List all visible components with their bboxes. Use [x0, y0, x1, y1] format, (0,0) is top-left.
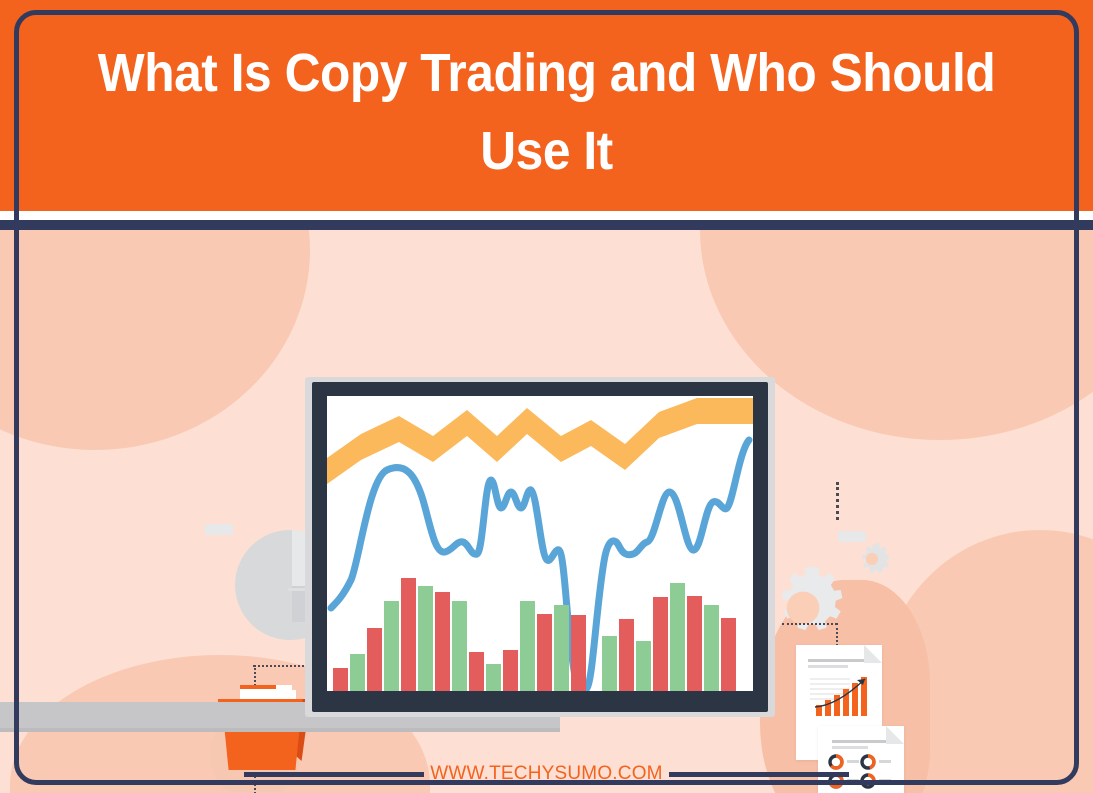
monitor-screen: [327, 396, 753, 691]
doc-heading-line: [808, 659, 864, 662]
doc-text-line: [832, 746, 868, 749]
chart-bar: [435, 592, 450, 691]
rectangle-decoration-left: [205, 524, 233, 535]
desk-surface-edge: [0, 728, 560, 732]
chart-bar: [469, 652, 484, 691]
gear-icon-small: [855, 542, 889, 576]
footer-website-url: WWW.TECHYSUMO.COM: [424, 763, 668, 785]
chart-bar: [653, 597, 668, 691]
chart-bar: [520, 601, 535, 691]
background-blob-top-left: [0, 230, 310, 450]
chart-bar: [670, 583, 685, 691]
chart-bar: [418, 586, 433, 691]
connector-line-gear-vertical: [836, 482, 839, 520]
doc-text-line: [808, 665, 848, 668]
header-divider-rule: [0, 220, 1093, 230]
chart-bar: [503, 650, 518, 691]
chart-bar: [333, 668, 348, 691]
chart-bar: [537, 614, 552, 691]
chart-bar: [636, 641, 651, 691]
folder-back-lip: [240, 685, 276, 689]
chart-bar: [721, 618, 736, 691]
chart-bar: [384, 601, 399, 691]
chart-bar: [401, 578, 416, 691]
chart-bar: [687, 596, 702, 691]
footer-rule-right: [669, 772, 849, 777]
chart-volume-bars-right: [602, 583, 736, 691]
chart-bar: [619, 619, 634, 691]
footer: WWW.TECHYSUMO.COM: [0, 755, 1093, 793]
rectangle-decoration-right: [838, 531, 866, 542]
chart-volume-bars-left: [333, 578, 586, 691]
connector-line-docs-horizontal: [782, 623, 837, 625]
header-white-gap: [0, 211, 1093, 220]
desktop-monitor: [305, 377, 775, 722]
footer-rule-left: [244, 772, 424, 777]
illustration-stage: 100 K: [0, 230, 1093, 793]
growth-bar-chart-icon: [810, 673, 872, 717]
poster-canvas: What Is Copy Trading and Who Should Use …: [0, 0, 1093, 793]
trading-chart: [327, 396, 753, 691]
doc-heading-line: [832, 740, 888, 743]
chart-bar: [602, 636, 617, 691]
chart-bar: [704, 605, 719, 691]
chart-bar: [350, 654, 365, 691]
chart-bar: [367, 628, 382, 691]
chart-bar: [571, 615, 586, 691]
header-banner: What Is Copy Trading and Who Should Use …: [0, 0, 1093, 211]
chart-bar: [486, 664, 501, 691]
page-title: What Is Copy Trading and Who Should Use …: [90, 34, 1004, 191]
chart-bar: [452, 601, 467, 691]
chart-bar: [554, 605, 569, 691]
